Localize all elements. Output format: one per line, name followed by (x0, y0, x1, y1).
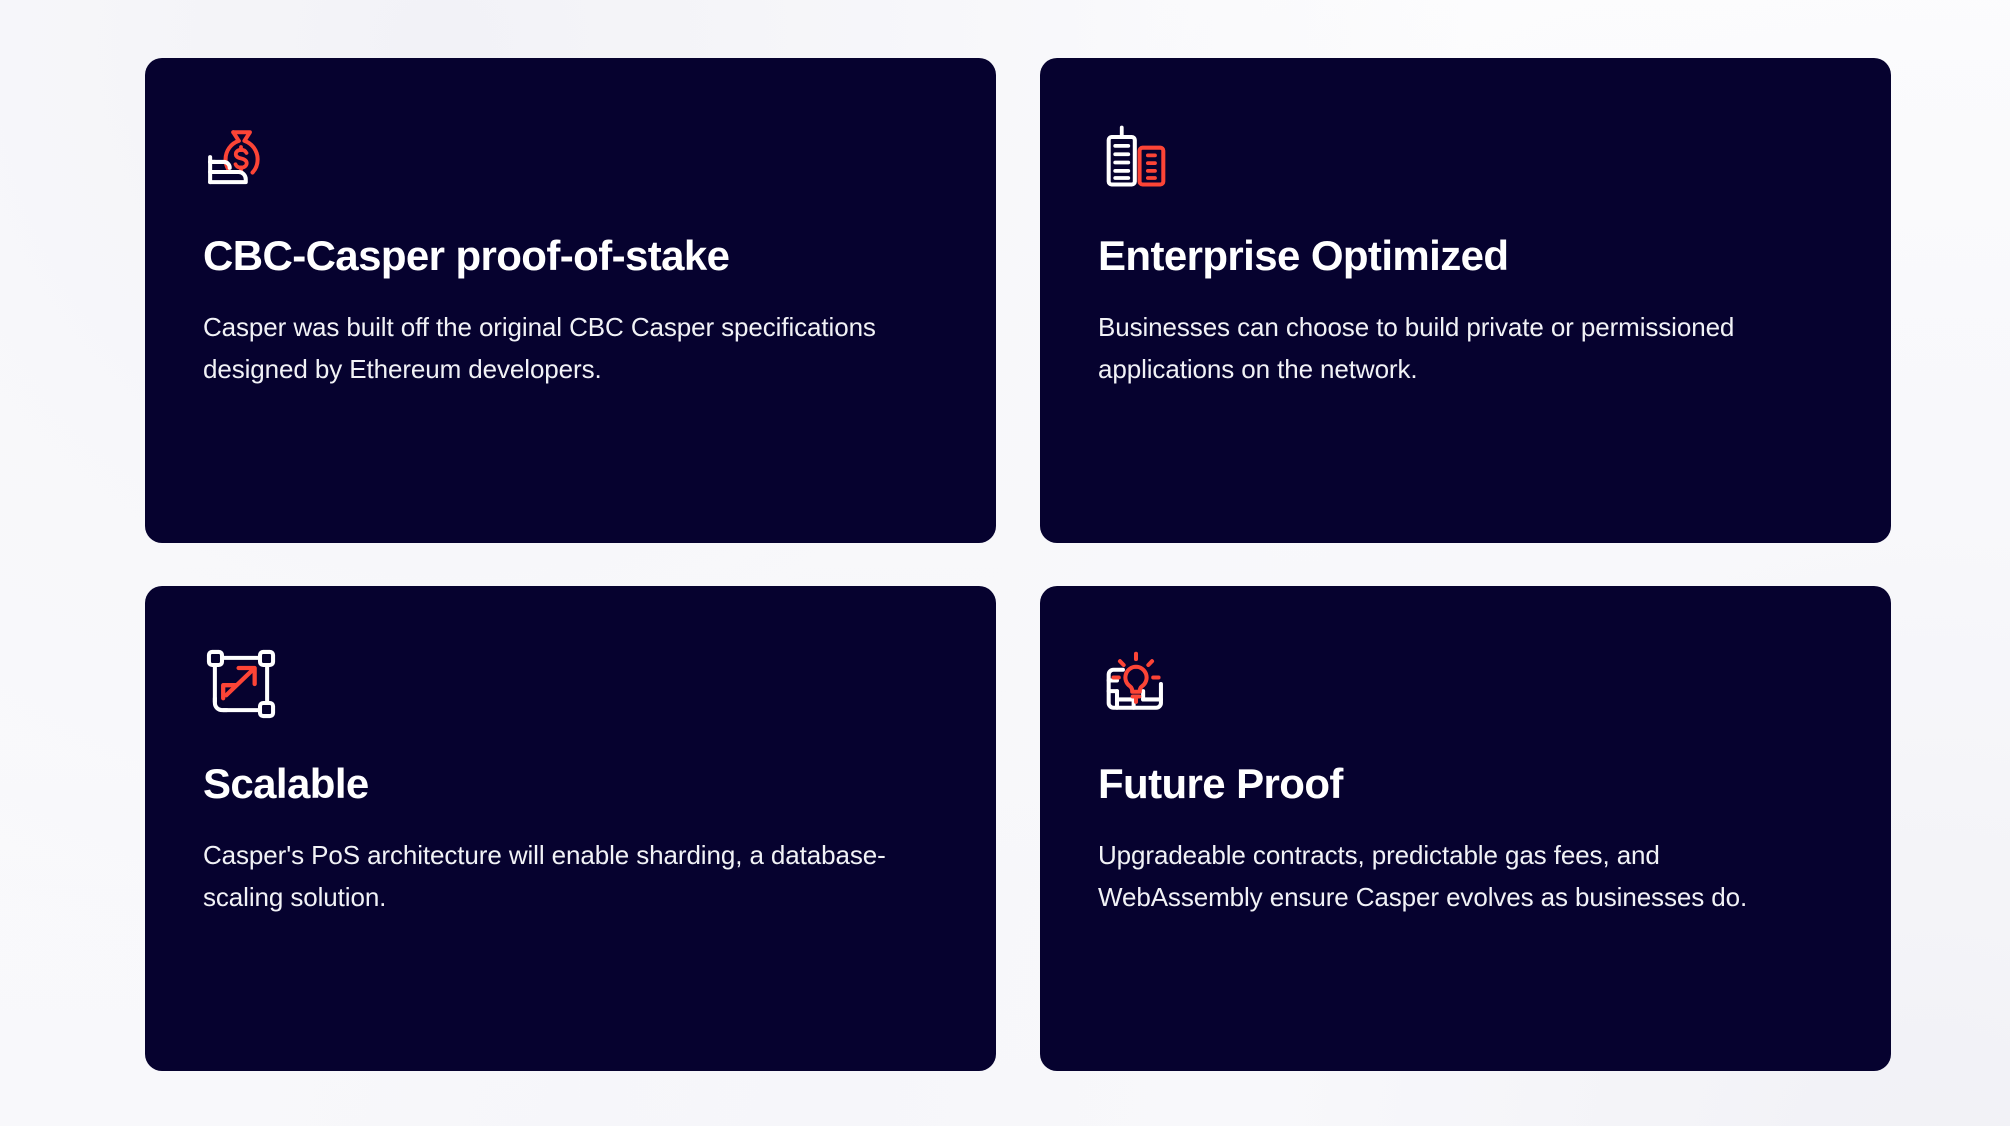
office-buildings-icon (1098, 118, 1174, 194)
feature-card-enterprise-optimized[interactable]: Enterprise Optimized Businesses can choo… (1040, 58, 1891, 543)
feature-card-description: Businesses can choose to build private o… (1098, 306, 1778, 391)
feature-card-description: Casper's PoS architecture will enable sh… (203, 834, 903, 919)
feature-card-title: Enterprise Optimized (1098, 232, 1833, 279)
lightbulb-blueprint-icon (1098, 646, 1174, 722)
money-bag-stake-icon (203, 118, 279, 194)
feature-card-future-proof[interactable]: Future Proof Upgradeable contracts, pred… (1040, 586, 1891, 1071)
feature-card-title: Scalable (203, 760, 938, 807)
scale-expand-arrow-icon (203, 646, 279, 722)
feature-card-grid: CBC-Casper proof-of-stake Casper was bui… (145, 58, 1891, 1071)
feature-card-description: Upgradeable contracts, predictable gas f… (1098, 834, 1778, 919)
feature-card-title: CBC-Casper proof-of-stake (203, 232, 938, 279)
feature-card-scalable[interactable]: Scalable Casper's PoS architecture will … (145, 586, 996, 1071)
feature-card-title: Future Proof (1098, 760, 1833, 807)
feature-card-description: Casper was built off the original CBC Ca… (203, 306, 903, 391)
feature-card-proof-of-stake[interactable]: CBC-Casper proof-of-stake Casper was bui… (145, 58, 996, 543)
